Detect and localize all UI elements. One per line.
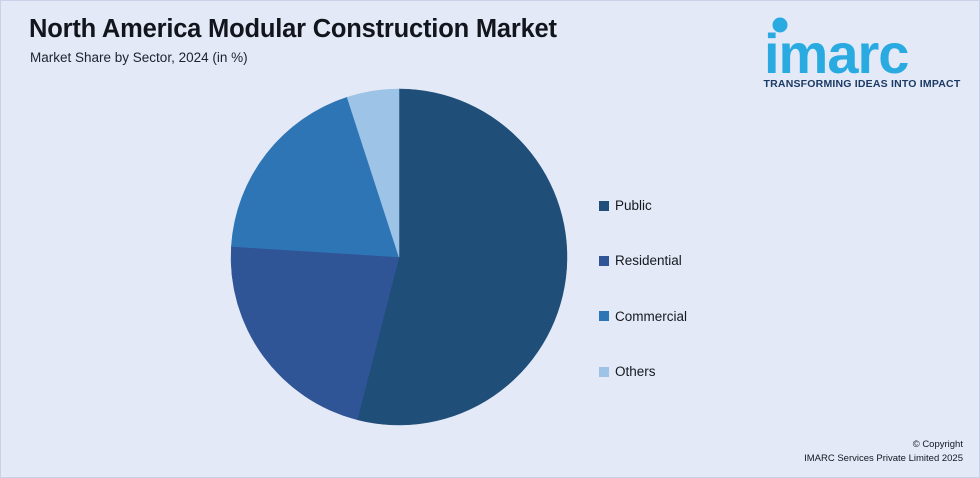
legend-item-residential: Residential [599,233,799,288]
infographic-canvas: North America Modular Construction Marke… [0,0,980,478]
legend-swatch-icon [599,311,609,321]
pie-slice-group [231,89,567,425]
legend-swatch-icon [599,256,609,266]
imarc-logo: imarc TRANSFORMING IDEAS INTO IMPACT [759,13,965,91]
legend-item-others: Others [599,344,799,399]
pie-chart [229,87,569,427]
copyright-line-2: IMARC Services Private Limited 2025 [804,452,963,467]
chart-subtitle: Market Share by Sector, 2024 (in %) [30,50,248,65]
logo-tagline: TRANSFORMING IDEAS INTO IMPACT [764,78,961,90]
copyright-block: © Copyright IMARC Services Private Limit… [804,438,963,467]
chart-legend: PublicResidentialCommercialOthers [599,178,799,400]
logo-wordmark: imarc [764,22,908,85]
legend-label: Others [615,365,656,379]
legend-item-public: Public [599,178,799,233]
copyright-line-1: © Copyright [804,438,963,453]
legend-swatch-icon [599,367,609,377]
legend-label: Commercial [615,310,687,324]
legend-label: Residential [615,254,682,268]
legend-item-commercial: Commercial [599,289,799,344]
legend-label: Public [615,199,652,213]
chart-title: North America Modular Construction Marke… [29,15,557,44]
legend-swatch-icon [599,201,609,211]
